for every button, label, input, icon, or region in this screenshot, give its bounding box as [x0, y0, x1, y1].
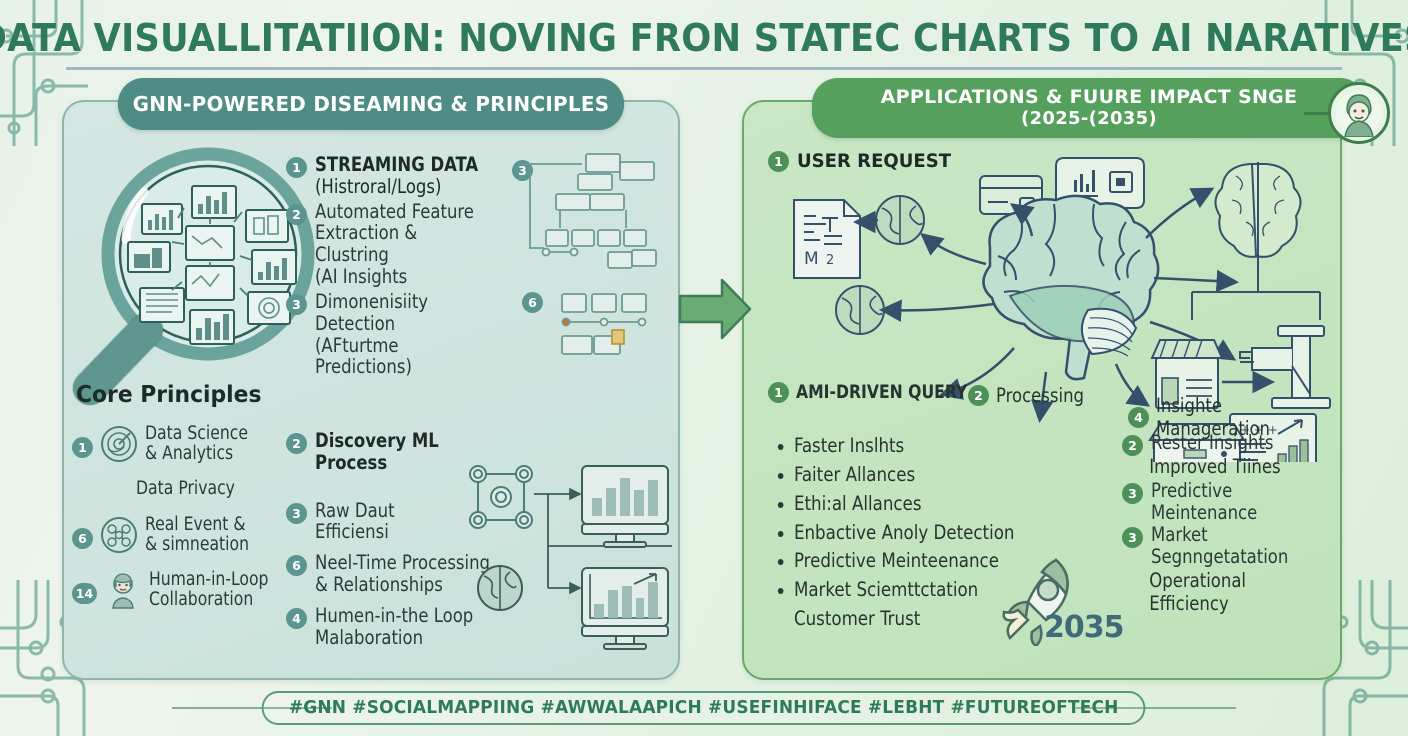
flowchart-blocks-icon	[516, 152, 664, 272]
brain-top-icon	[1215, 162, 1300, 257]
list-item: 2 Automated Feature Extraction & Clustri…	[286, 201, 501, 288]
ml-badge: 3	[286, 503, 307, 524]
row-label-processing: 2 Processing	[968, 384, 1090, 407]
flow-badge-6: 6	[522, 292, 543, 313]
flowchart-blocks-small-icon	[556, 292, 666, 362]
list-item: 3 Predictive Meintenance	[1122, 480, 1337, 524]
list-item: 6 Real Event & & simneation	[72, 515, 277, 556]
list-item: 1 Data Science & Analytics	[72, 424, 277, 465]
outcome-badge: 2	[1122, 435, 1143, 456]
right-panel-header-line2: (2025-(2035)	[1021, 109, 1157, 129]
list-item: 3 Dimonenisiity Detection (AFturtme Pred…	[286, 291, 501, 378]
network-nodes-icon	[470, 466, 532, 528]
monitor-bar-chart-icon	[582, 466, 668, 547]
left-panel-header: GNN-POWERED DISEAMING & PRINCIPLES	[118, 78, 624, 130]
monitor-trend-chart-icon	[582, 568, 668, 649]
row-badge: 2	[968, 385, 989, 406]
core-label: Real Event & & simneation	[145, 515, 249, 556]
list-item: Faster Inslhts	[774, 432, 1031, 461]
outcome-label: Operational Efficiency	[1122, 569, 1324, 615]
list-item: 3 Market Segnngetatation	[1122, 524, 1337, 568]
right-panel-header: APPLICATIONS & FUURE IMPACT SNGE (2025-(…	[812, 78, 1366, 138]
step-badge: 1	[286, 157, 307, 178]
step-label: Dimonenisiity Detection (AFturtme Predic…	[315, 291, 490, 378]
person-avatar-icon	[104, 571, 142, 609]
left-steps-list: 1 STREAMING DATA (Histroral/Logs) 2 Auto…	[286, 154, 501, 381]
page-title-bar: DATA VISUALLITATIION: NOVING FRON STATEC…	[66, 8, 1342, 70]
core-label: Data Science & Analytics	[145, 424, 248, 465]
outcomes-list: 2 Rester Insights Improved Tiines 3 Pred…	[1122, 432, 1337, 617]
ml-badge: 6	[286, 555, 307, 576]
row-label-ami-driven: 1 AMI-DRIVEN Query	[768, 382, 978, 403]
network-globe-icon	[100, 516, 138, 554]
outcome-badge: 3	[1122, 483, 1143, 504]
list-item: Customer Trust	[774, 605, 1031, 634]
user-avatar-icon	[1328, 82, 1390, 144]
list-item: Ethi:al Allances	[774, 490, 1031, 519]
row-badge: 4	[1128, 407, 1149, 428]
list-item: Data Privacy	[72, 479, 277, 499]
row-badge: 1	[768, 382, 789, 403]
core-badge: 1	[72, 437, 93, 458]
outcome-label: Market Segnngetatation	[1151, 524, 1326, 568]
core-label: Human-in-Loop Collaboration	[149, 570, 268, 611]
list-item: Enbactive Anoly Detection	[774, 519, 1031, 548]
avatar-connector	[1304, 112, 1330, 115]
flow-arrow-icon	[678, 276, 752, 342]
ml-badge: 4	[286, 608, 307, 629]
rocket-year-label: 2035	[1044, 610, 1124, 645]
outcome-badge: 3	[1122, 527, 1143, 548]
row-label-text: AMI-DRIVEN Query	[796, 382, 967, 403]
step-badge: 3	[286, 294, 307, 315]
globe-icon	[478, 566, 522, 610]
step-label: STREAMING DATA (Histroral/Logs)	[315, 154, 478, 198]
row-label-text: Processing	[996, 384, 1084, 407]
left-panel: GNN-POWERED DISEAMING & PRINCIPLES	[62, 100, 680, 680]
left-panel-header-label: GNN-POWERED DISEAMING & PRINCIPLES	[133, 92, 610, 116]
outcome-label: Rester Insights	[1151, 432, 1273, 454]
document-icon: M 2	[794, 200, 860, 278]
infographic-canvas: DATA VISUALLITATIION: NOVING FRON STATEC…	[0, 0, 1408, 736]
outcome-label: Predictive Meintenance	[1151, 480, 1326, 524]
ml-badge: 2	[286, 433, 307, 454]
globe-icon	[836, 286, 884, 334]
list-item: 14 Human-in-Loop Collaboration	[72, 570, 277, 611]
target-analytics-icon	[100, 425, 138, 463]
ml-label: Humen-in-the Loop Malaboration	[315, 605, 473, 649]
outcome-label: Improved Tiines	[1122, 455, 1324, 478]
ml-label: Raw Daut Efficiensi	[315, 500, 395, 544]
step-label: Automated Feature Extraction & Clustring…	[315, 201, 490, 288]
hashtags-label: #GNN #SOCIALMAPPIING #AWWALAAPICH #USEFI…	[262, 691, 1146, 725]
svg-text:M: M	[804, 249, 819, 269]
right-panel-header-line1: APPLICATIONS & FUURE IMPACT SNGE	[881, 87, 1298, 108]
core-badge: 14	[72, 583, 97, 604]
right-panel: APPLICATIONS & FUURE IMPACT SNGE (2025-(…	[742, 100, 1342, 680]
core-principles-list: 1 Data Science & Analytics Data Pr	[72, 424, 277, 624]
step-badge: 2	[286, 204, 307, 225]
list-item: Market Sciemttctation	[774, 576, 1031, 605]
list-item: 1 STREAMING DATA (Histroral/Logs)	[286, 154, 501, 198]
ml-process-graphics	[462, 460, 672, 660]
svg-text:2: 2	[826, 253, 834, 268]
footer-hashtag-bar: #GNN #SOCIALMAPPIING #AWWALAAPICH #USEFI…	[0, 688, 1408, 728]
list-item: Faiter Allances	[774, 461, 1031, 490]
list-item: Predictive Meinteenance	[774, 547, 1031, 576]
core-principles-heading: Core Principles	[76, 382, 261, 408]
page-title: DATA VISUALLITATIION: NOVING FRON STATEC…	[0, 16, 1408, 60]
core-label: Data Privacy	[136, 479, 235, 499]
list-item: 2 Rester Insights	[1122, 432, 1337, 454]
core-badge: 6	[72, 528, 93, 549]
globe-icon	[876, 196, 924, 244]
